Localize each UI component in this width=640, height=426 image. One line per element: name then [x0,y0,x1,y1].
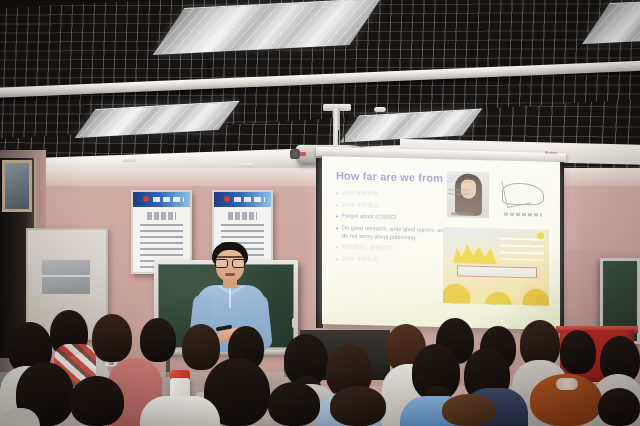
slide-bullet: Do good research, write good papers, and… [336,224,448,243]
slide-bullet-list: 2007 年的目标 2008 年的想法 Forget about (C)SSCI… [336,189,448,266]
presenter-mouth [225,273,235,276]
ceiling-fitting-1 [123,158,136,162]
ceiling-fitting-2 [239,163,252,167]
slide-bullet: 2008 年的想法 [336,201,448,212]
audience-head [598,388,640,426]
sketch-caption [504,213,542,217]
audience-head [560,330,596,374]
glasses-icon [215,259,245,266]
audience-head [70,376,124,426]
ceiling-fitting-3 [374,107,386,112]
slide-sunflower-poster [443,227,549,306]
poster-title-line [228,212,257,220]
audience-head [182,324,220,370]
slide-bullet: Forget about (C)SSCI [336,212,448,223]
audience [0,300,640,426]
poster-header-banner [133,192,190,207]
transom-window [2,160,32,212]
lecture-hall-photo: Rednet How far are we from SSCI? 2007 年的… [0,0,640,426]
audience-head [92,314,132,362]
slide-line-sketch [498,172,548,217]
notice-board-window [40,258,92,296]
slide-bullet: 2009 年的现实 [336,255,448,266]
projector-status-led [300,152,306,156]
poster-side-text [500,237,544,260]
portrait-caption [448,189,470,197]
presenter-eyebrows [217,256,243,258]
poster-title-line [147,212,176,220]
projector-lens-icon [290,149,300,159]
slide-bullet: 2007 年的目标 [336,189,448,200]
poster-header-banner [214,192,271,207]
audience-body [140,396,220,426]
audience-head [140,318,176,362]
audience-head [330,386,386,426]
poster-accent-dot [537,232,544,239]
audience-head [268,382,320,426]
portrait-footer-bar [451,212,473,216]
slide-portrait-photo [447,171,489,218]
hair-clip-icon [556,378,578,390]
slide-bullet: 好的研究，好的论文 [336,243,448,254]
poster-crown-graphic [453,241,497,264]
audience-head [442,394,496,426]
screen-brand-label: Rednet [545,151,571,157]
